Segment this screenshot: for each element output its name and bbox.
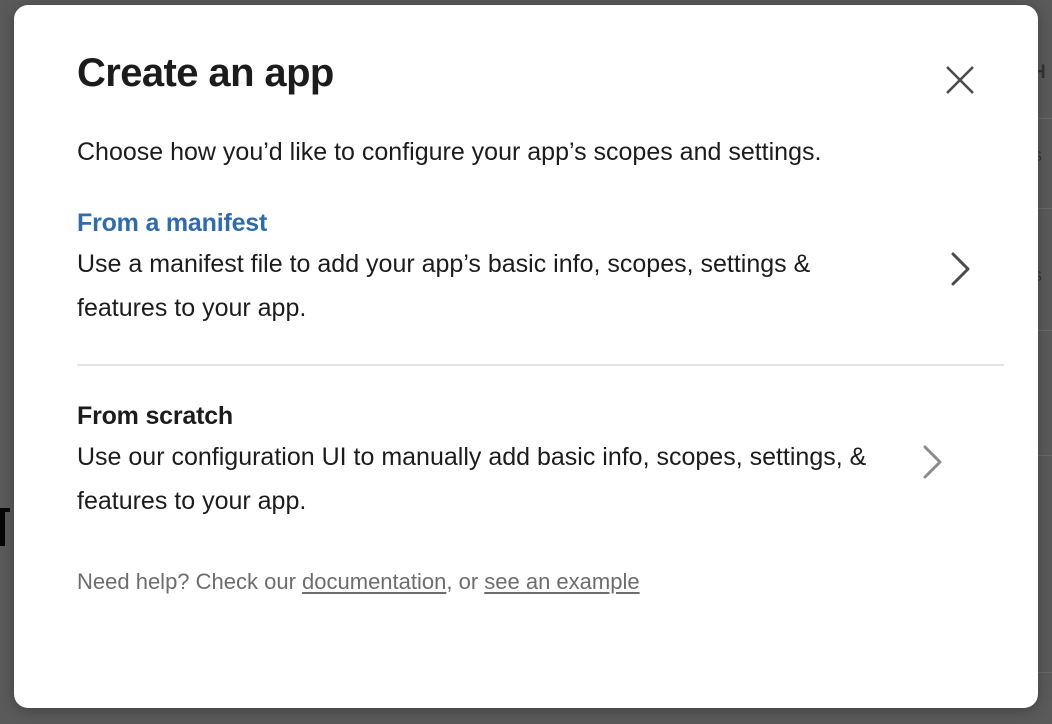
footer-lead-text: Need help? Check our [77,569,302,594]
option-divider [77,364,1004,366]
see-an-example-link[interactable]: see an example [484,569,639,594]
modal-header: Create an app [77,5,975,97]
modal-footer: Need help? Check our documentation, or s… [77,567,975,597]
page-title: Create an app [77,49,975,97]
footer-separator-text: , or [446,569,484,594]
close-icon [944,64,976,96]
option-from-a-manifest[interactable]: From a manifest Use a manifest file to a… [77,199,975,340]
option-title: From scratch [77,400,867,433]
option-text: From scratch Use our configuration UI to… [77,400,867,523]
option-description: Use a manifest file to add your app’s ba… [77,242,867,330]
close-button[interactable] [937,57,983,103]
documentation-link[interactable]: documentation [302,569,446,594]
option-from-scratch[interactable]: From scratch Use our configuration UI to… [77,392,975,533]
chevron-right-icon[interactable] [913,442,953,482]
create-app-modal: Create an app Choose how you’d like to c… [14,5,1038,708]
option-text: From a manifest Use a manifest file to a… [77,207,867,330]
option-description: Use our configuration UI to manually add… [77,435,867,523]
backdrop-corner-mark [0,508,10,546]
modal-subtitle: Choose how you’d like to configure your … [77,135,975,169]
option-title: From a manifest [77,207,867,240]
chevron-right-icon[interactable] [941,249,981,289]
app-creation-options: From a manifest Use a manifest file to a… [77,199,975,533]
